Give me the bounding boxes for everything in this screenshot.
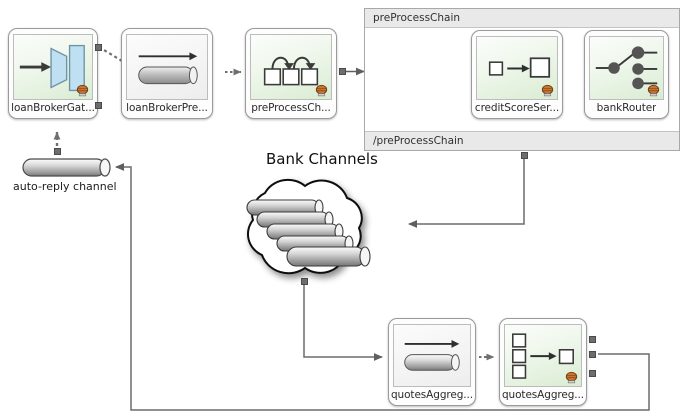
container-footer-label: /preProcessChain [365,131,679,150]
container-header-label: preProcessChain [365,9,679,28]
node-creditScoreService[interactable]: creditScoreSer... [471,30,563,119]
port-chain-out[interactable] [339,68,346,75]
port-aggregator-top[interactable] [589,336,596,343]
node-label: quotesAggreg... [502,389,584,402]
node-quotesAggregatorPipe[interactable]: quotesAggreg... [388,318,476,406]
bean-badge-icon [76,84,89,97]
pipe-arrow-icon [393,324,471,387]
port-gateway-in-bottom[interactable] [95,102,102,109]
diagram-canvas: preProcessChain /preProcessChain loanBro… [0,0,688,419]
node-label: quotesAggreg... [391,389,473,402]
edge-cloud-to-aggregator [304,283,382,357]
node-loanBrokerGateway[interactable]: loanBrokerGat... [8,28,98,119]
cloud-title: Bank Channels [266,150,378,168]
port-cloud-out-bottom[interactable] [301,278,308,285]
edge-container-to-cloud [409,158,524,224]
auto-reply-channel-pipe[interactable] [20,155,116,179]
node-bankRouter[interactable]: bankRouter [584,30,669,119]
bean-badge-icon [647,84,660,97]
node-loanBrokerPre[interactable]: loanBrokerPre... [121,28,213,119]
router-split-icon [589,36,664,100]
port-gateway-out-top[interactable] [95,44,102,51]
gateway-funnel-icon [13,34,93,100]
auto-reply-channel-label: auto-reply channel [13,180,117,193]
pipe-arrow-icon [126,34,208,100]
bank-channels-cloud [205,168,405,288]
node-label: creditScoreSer... [475,102,559,115]
port-autoreply-out[interactable] [54,148,61,155]
node-label: loanBrokerPre... [126,102,208,115]
node-quotesAggregator[interactable]: quotesAggreg... [499,318,587,406]
node-label: bankRouter [597,102,657,115]
bean-badge-icon [565,371,578,384]
transform-icon [476,36,558,100]
aggregator-icon [504,324,582,387]
bean-badge-icon [541,84,554,97]
node-label: loanBrokerGat... [11,102,95,115]
node-preProcessChain[interactable]: preProcessCh... [245,28,337,119]
port-container-out-bottom[interactable] [521,152,528,159]
bean-badge-icon [315,84,328,97]
port-aggregator-mid[interactable] [589,351,596,358]
chain-hops-icon [250,34,332,100]
node-label: preProcessCh... [251,102,331,115]
port-aggregator-bottom[interactable] [589,370,596,377]
